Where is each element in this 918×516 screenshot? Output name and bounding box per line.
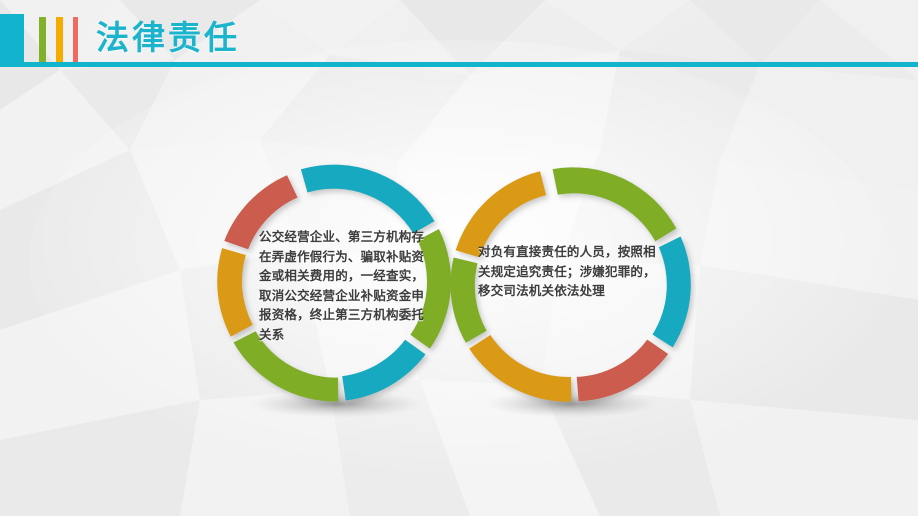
right-ring-segment-gold-bottom: [469, 335, 571, 402]
arrow-ring-diagram: [0, 68, 918, 516]
header-bar-orange: [56, 17, 63, 62]
header-underline: [0, 62, 918, 67]
left-ring-segment-gold: [217, 248, 252, 337]
right-ring-segment-cyan-right: [653, 237, 691, 348]
left-ring-text: 公交经营企业、第三方机构存在弄虚作假行为、骗取补贴资金或相关费用的，一经查实，取…: [259, 228, 433, 345]
header-bar-green: [39, 17, 46, 62]
left-ring-segment-cyan-bottom: [342, 340, 425, 401]
right-ring-text: 对负有直接责任的人员，按照相关规定追究责任；涉嫌犯罪的，移交司法机关依法处理: [478, 243, 656, 302]
slide-header: 法律责任: [0, 0, 918, 68]
left-ring-segment-cyan-top: [301, 165, 435, 234]
page-title: 法律责任: [96, 16, 240, 60]
slide-root: 法律责任: [0, 0, 918, 516]
header-accent-block: [0, 14, 24, 63]
right-ring-segment-red: [577, 340, 668, 402]
header-bar-red: [73, 17, 78, 62]
right-ring-segment-green-top: [553, 167, 677, 241]
